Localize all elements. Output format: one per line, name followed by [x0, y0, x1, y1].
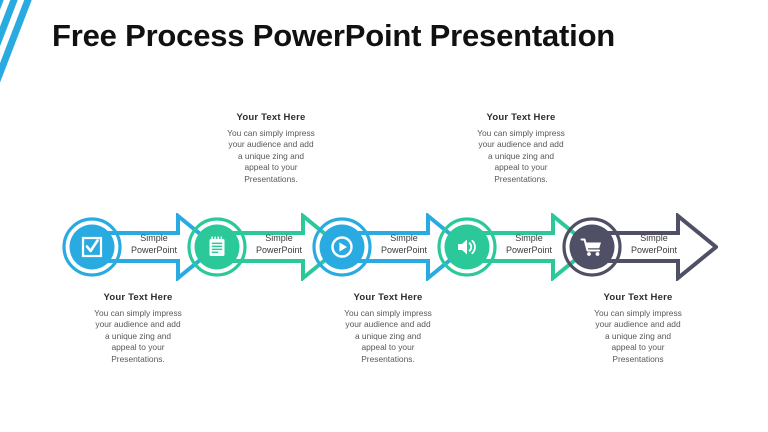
callout-title: Your Text Here	[63, 292, 213, 303]
callout-body: You can simply impress your audience and…	[63, 308, 213, 365]
callout-title: Your Text Here	[446, 112, 596, 123]
callout-bottom-1: Your Text Here You can simply impress yo…	[63, 292, 213, 365]
callout-body: You can simply impress your audience and…	[563, 308, 713, 365]
diagonal-stripe-2	[0, 0, 15, 120]
process-node-circle-1[interactable]	[62, 217, 122, 277]
notepad-icon	[210, 237, 225, 256]
callout-title: Your Text Here	[313, 292, 463, 303]
diagonal-stripe-1	[0, 0, 1, 120]
diagonal-stripe-3	[0, 0, 29, 120]
process-step-5[interactable]: Simple PowerPoint	[562, 207, 722, 287]
process-chain: Simple PowerPointSimple PowerPointSimple…	[62, 207, 710, 287]
callout-bottom-3: Your Text Here You can simply impress yo…	[563, 292, 713, 365]
callout-body: You can simply impress your audience and…	[313, 308, 463, 365]
callout-top-2: Your Text Here You can simply impress yo…	[446, 112, 596, 185]
callout-title: Your Text Here	[563, 292, 713, 303]
callout-bottom-2: Your Text Here You can simply impress yo…	[313, 292, 463, 365]
process-node-circle-4[interactable]	[437, 217, 497, 277]
callout-title: Your Text Here	[196, 112, 346, 123]
process-node-circle-5[interactable]	[562, 217, 622, 277]
diagonal-stripe-4	[0, 0, 43, 120]
callout-top-1: Your Text Here You can simply impress yo…	[196, 112, 346, 185]
page-title: Free Process PowerPoint Presentation	[52, 18, 615, 54]
process-node-circle-3[interactable]	[312, 217, 372, 277]
callout-body: You can simply impress your audience and…	[446, 128, 596, 185]
process-node-circle-2[interactable]	[187, 217, 247, 277]
callout-body: You can simply impress your audience and…	[196, 128, 346, 185]
